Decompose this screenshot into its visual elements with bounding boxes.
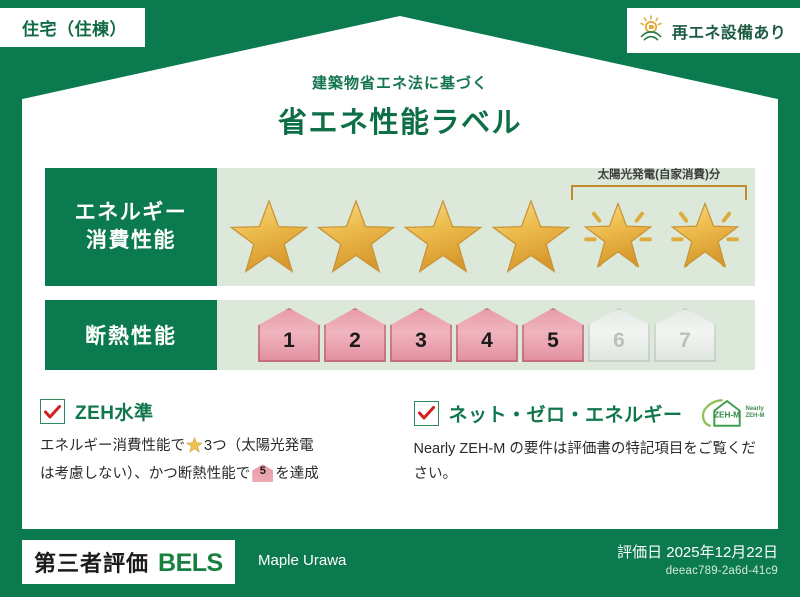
bels-english-label: BELS <box>158 549 223 578</box>
building-name: Maple Urawa <box>258 552 346 569</box>
zeh-m-logo-subtext: Nearly ZEH-M <box>746 406 765 420</box>
bels-logo-box: 第三者評価 BELS <box>22 540 235 584</box>
criteria-section: ZEH水準 エネルギー消費性能で3つ（太陽光発電 は考慮しない）、かつ断熱性能で… <box>40 398 765 488</box>
renewable-badge-label: 再エネ設備あり <box>672 19 786 43</box>
insulation-level-number: 5 <box>547 329 559 362</box>
checkmark-icon <box>40 399 65 424</box>
criteria-title: ネット・ゼロ・エネルギー <box>449 400 683 427</box>
energy-performance-label: エネルギー 消費性能 <box>45 168 217 286</box>
star-item-solar <box>576 195 660 279</box>
energy-label-card: 住宅（住棟） 再エネ設備あり 建築物省エネ法に基づく 省エネ性能ラベル <box>0 0 800 597</box>
insulation-level-number: 1 <box>283 329 295 362</box>
insulation-level-number: 3 <box>415 329 427 362</box>
insulation-level-badge: 1 <box>258 308 320 362</box>
insulation-level-track: 1 2 3 4 5 <box>217 300 755 370</box>
heading-subtitle: 建築物省エネ法に基づく <box>0 72 800 93</box>
criteria-description: エネルギー消費性能で3つ（太陽光発電 は考慮しない）、かつ断熱性能で5を達成 <box>40 434 392 488</box>
insulation-level-badge: 6 <box>588 308 650 362</box>
criteria-net-zero-energy: ネット・ゼロ・エネルギー ZEH-M Nearly ZEH-M Nearly Z… <box>414 398 766 488</box>
star-item-solar <box>663 195 747 279</box>
criteria-text-part1: エネルギー消費性能で <box>40 438 185 454</box>
label-heading: 建築物省エネ法に基づく 省エネ性能ラベル <box>0 72 800 141</box>
sun-renewable-icon <box>637 14 665 47</box>
renewable-energy-badge: 再エネ設備あり <box>627 8 800 53</box>
solar-annotation-bracket <box>571 185 747 200</box>
insulation-level-badge: 5 <box>522 308 584 362</box>
insulation-level-badge: 7 <box>654 308 716 362</box>
criteria-zeh-standard: ZEH水準 エネルギー消費性能で3つ（太陽光発電 は考慮しない）、かつ断熱性能で… <box>40 398 392 488</box>
energy-performance-row: エネルギー 消費性能 太陽光発電(自家消費)分 <box>45 168 755 286</box>
star-item <box>227 195 311 279</box>
building-type-tag: 住宅（住棟） <box>0 8 145 47</box>
criteria-header: ZEH水準 <box>40 398 392 425</box>
inline-level-number: 5 <box>252 464 273 482</box>
star-item <box>401 195 485 279</box>
insulation-level-group: 1 2 3 4 5 <box>227 305 747 365</box>
svg-text:ZEH-M: ZEH-M <box>713 411 739 420</box>
zeh-m-logo: ZEH-M Nearly ZEH-M <box>699 398 765 428</box>
criteria-text-part3: を達成 <box>275 466 319 482</box>
criteria-text-stars: 3つ（太陽光発電 <box>204 438 314 454</box>
insulation-performance-label: 断熱性能 <box>45 300 217 370</box>
heading-main-title: 省エネ性能ラベル <box>0 99 800 141</box>
evaluation-date: 評価日 2025年12月22日 <box>617 541 778 562</box>
insulation-level-badge: 4 <box>456 308 518 362</box>
house-level-icon-inline: 5 <box>252 464 273 482</box>
star-item <box>489 195 573 279</box>
zeh-m-sub-line1: Nearly <box>746 406 764 412</box>
solar-annotation-label: 太陽光発電(自家消費)分 <box>571 166 747 182</box>
insulation-level-number: 2 <box>349 329 361 362</box>
insulation-performance-row: 断熱性能 1 2 3 4 <box>45 300 755 370</box>
energy-label-line2: 消費性能 <box>86 227 176 255</box>
zeh-m-sub-line2: ZEH-M <box>746 413 765 419</box>
checkmark-icon <box>414 401 439 426</box>
criteria-text-part2: は考慮しない）、かつ断熱性能で <box>40 466 250 482</box>
insulation-level-badge: 3 <box>390 308 452 362</box>
insulation-level-badge: 2 <box>324 308 386 362</box>
energy-label-line1: エネルギー <box>75 199 188 227</box>
star-rating-group <box>225 192 749 282</box>
energy-star-track: 太陽光発電(自家消費)分 <box>217 168 755 286</box>
criteria-header: ネット・ゼロ・エネルギー ZEH-M Nearly ZEH-M <box>414 398 766 428</box>
bels-japanese-label: 第三者評価 <box>34 546 149 578</box>
solar-annotation: 太陽光発電(自家消費)分 <box>571 166 747 200</box>
star-icon-inline <box>186 437 203 462</box>
footer-bar: 第三者評価 BELS Maple Urawa 評価日 2025年12月22日 d… <box>0 529 800 597</box>
insulation-level-number: 6 <box>613 329 625 362</box>
insulation-level-number: 7 <box>679 329 691 362</box>
evaluation-id: deeac789-2a6d-41c9 <box>666 565 778 577</box>
insulation-level-number: 4 <box>481 329 493 362</box>
criteria-title: ZEH水準 <box>75 398 154 425</box>
star-item <box>314 195 398 279</box>
criteria-description: Nearly ZEH-M の要件は評価書の特記項目をご覧ください。 <box>414 437 766 488</box>
